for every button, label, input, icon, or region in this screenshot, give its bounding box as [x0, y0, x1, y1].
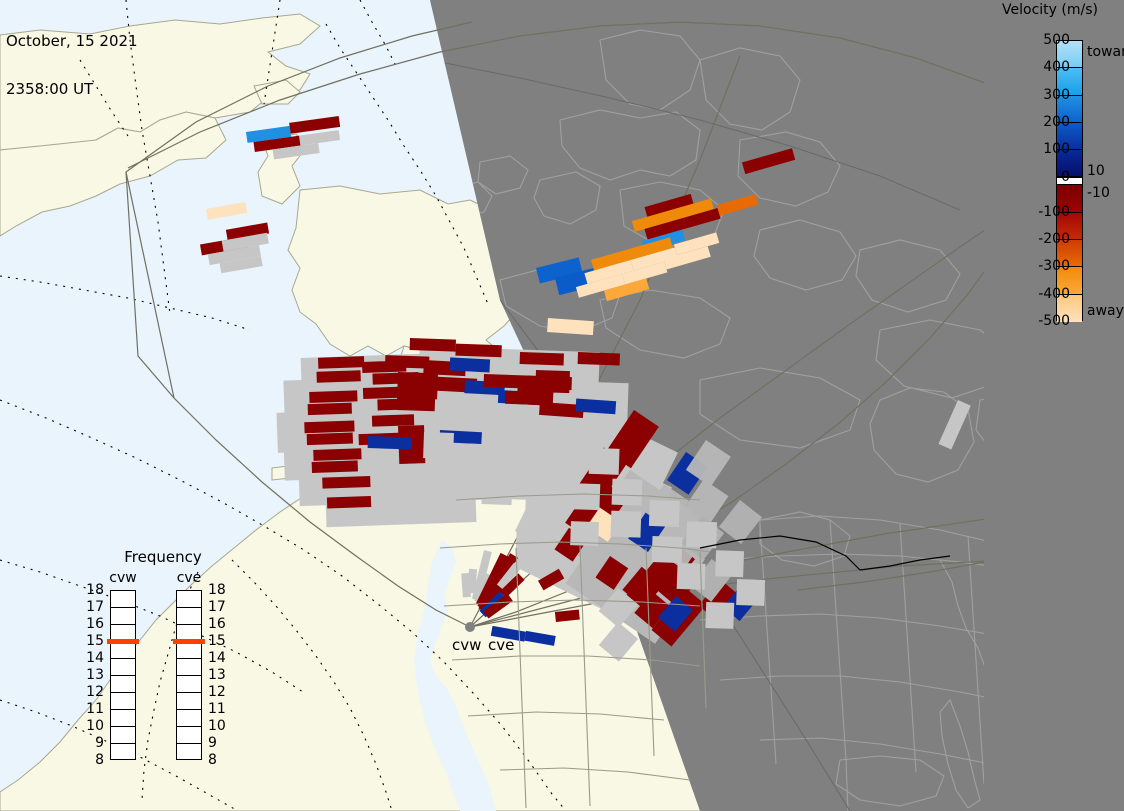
- frequency-bar-cell: [111, 727, 135, 744]
- radar-site-label-cvw: cvw: [452, 636, 481, 654]
- velocity-tick-label: -500: [1020, 313, 1070, 329]
- time-label: 2358:00 UT: [6, 81, 138, 97]
- frequency-scale-number: 13: [84, 667, 104, 683]
- frequency-scale-number: 16: [208, 616, 228, 632]
- frequency-bar-cell: [177, 693, 201, 710]
- velocity-tick-label: -100: [1020, 204, 1070, 220]
- velocity-tick-label: -200: [1020, 231, 1070, 247]
- frequency-scale-number: 9: [84, 735, 104, 751]
- frequency-scale-number: 12: [84, 684, 104, 700]
- frequency-bar-cell: [111, 659, 135, 676]
- frequency-marker: [173, 639, 205, 644]
- velocity-toward-threshold-label: 10: [1087, 163, 1105, 179]
- frequency-bar-cell: [177, 744, 201, 761]
- frequency-bar-cell: [111, 608, 135, 625]
- frequency-scale-number: 18: [208, 582, 228, 598]
- frequency-bar-cell: [177, 591, 201, 608]
- frequency-legend: Frequency cvw18171615141312111098cve1817…: [88, 548, 238, 786]
- frequency-bar-cell: [111, 591, 135, 608]
- frequency-scale-number: 11: [84, 701, 104, 717]
- frequency-scale-number: 9: [208, 735, 228, 751]
- frequency-scale-number: 18: [84, 582, 104, 598]
- frequency-bar-cell: [177, 676, 201, 693]
- frequency-column-label: cvw: [104, 570, 142, 586]
- velocity-tick-label: 0: [1020, 169, 1070, 185]
- frequency-scale-number: 10: [84, 718, 104, 734]
- velocity-tick-label: 500: [1020, 32, 1070, 48]
- frequency-bar-cell: [111, 676, 135, 693]
- frequency-scale-number: 15: [208, 633, 228, 649]
- velocity-away-threshold-label: -10: [1087, 185, 1110, 201]
- velocity-tick-label: 400: [1020, 59, 1070, 75]
- frequency-bar-cell: [111, 710, 135, 727]
- frequency-scale-number: 8: [84, 752, 104, 768]
- frequency-scale-number: 12: [208, 684, 228, 700]
- frequency-bar-cell: [177, 659, 201, 676]
- frequency-bar-cell: [111, 744, 135, 761]
- frequency-legend-title: Frequency: [88, 548, 238, 566]
- frequency-scale-number: 8: [208, 752, 228, 768]
- frequency-column-label: cve: [170, 570, 208, 586]
- velocity-legend-title: Velocity (m/s): [984, 2, 1116, 18]
- velocity-tick-label: 200: [1020, 114, 1070, 130]
- frequency-scale-number: 17: [208, 599, 228, 615]
- radar-map-screenshot: October, 15 2021 2358:00 UT Velocity (m/…: [0, 0, 1124, 811]
- frequency-scale-number: 14: [84, 650, 104, 666]
- frequency-scale-number: 14: [208, 650, 228, 666]
- frequency-scale-number: 11: [208, 701, 228, 717]
- velocity-tick-label: -300: [1020, 258, 1070, 274]
- radar-site-marker: [465, 622, 475, 632]
- date-label: October, 15 2021: [6, 33, 138, 49]
- frequency-bar-cell: [111, 642, 135, 659]
- frequency-scale-number: 17: [84, 599, 104, 615]
- timestamp-block: October, 15 2021 2358:00 UT: [6, 1, 138, 129]
- frequency-scale-number: 15: [84, 633, 104, 649]
- velocity-toward-label: toward: [1087, 44, 1124, 60]
- frequency-bar-cell: [177, 727, 201, 744]
- frequency-scale-number: 10: [208, 718, 228, 734]
- frequency-marker: [107, 639, 139, 644]
- velocity-tick-label: 300: [1020, 87, 1070, 103]
- frequency-scale-number: 13: [208, 667, 228, 683]
- velocity-away-label: away: [1087, 303, 1124, 319]
- radar-site-label-cve: cve: [488, 636, 514, 654]
- velocity-tick-label: -400: [1020, 286, 1070, 302]
- frequency-bar: [110, 590, 136, 760]
- frequency-bar-cell: [177, 642, 201, 659]
- velocity-legend-panel: Velocity (m/s) 5004003002001000-100-200-…: [984, 0, 1124, 811]
- frequency-scale-number: 16: [84, 616, 104, 632]
- velocity-tick-label: 100: [1020, 141, 1070, 157]
- frequency-bar: [176, 590, 202, 760]
- frequency-bar-cell: [177, 608, 201, 625]
- frequency-bar-cell: [111, 693, 135, 710]
- frequency-bar-cell: [177, 710, 201, 727]
